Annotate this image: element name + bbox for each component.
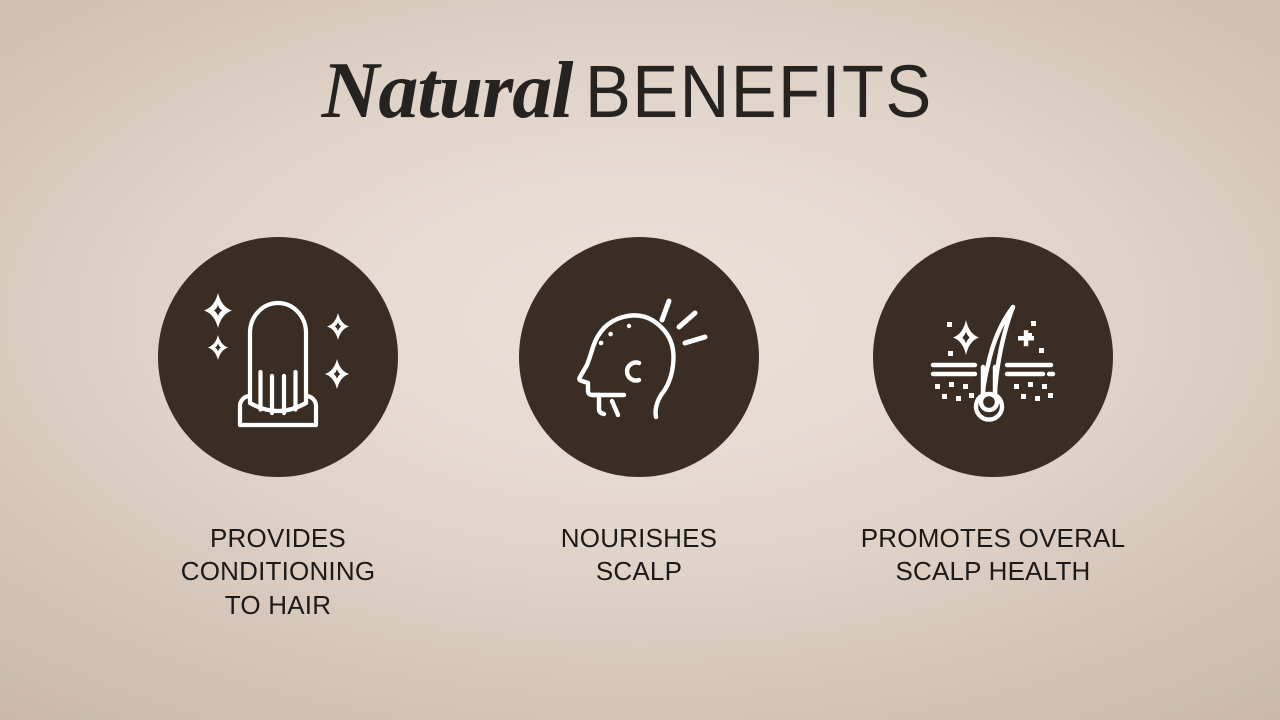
title-plain-word: BENEFITS xyxy=(585,49,933,134)
benefit-item-2[interactable]: NOURISHES SCALP xyxy=(459,237,819,589)
benefit-label-2: NOURISHES SCALP xyxy=(561,522,717,589)
benefit-label-3: PROMOTES OVERAL SCALP HEALTH xyxy=(861,522,1126,589)
head-profile-scalp-icon xyxy=(549,267,729,447)
benefits-row: PROVIDES CONDITIONING TO HAIR xyxy=(0,237,1280,657)
benefit-icon-circle-2 xyxy=(519,237,759,477)
benefit-item-3[interactable]: PROMOTES OVERAL SCALP HEALTH xyxy=(813,237,1173,589)
benefit-item-1[interactable]: PROVIDES CONDITIONING TO HAIR xyxy=(98,237,458,622)
title-script-word: Natural xyxy=(322,47,573,135)
benefit-icon-circle-3 xyxy=(873,237,1113,477)
page-title: NaturalBENEFITS xyxy=(0,46,1280,137)
benefit-label-1: PROVIDES CONDITIONING TO HAIR xyxy=(181,522,376,622)
benefit-icon-circle-1 xyxy=(158,237,398,477)
shiny-hair-icon xyxy=(188,267,368,447)
slide-canvas: NaturalBENEFITS xyxy=(0,0,1280,720)
hair-follicle-skin-icon xyxy=(903,267,1083,447)
